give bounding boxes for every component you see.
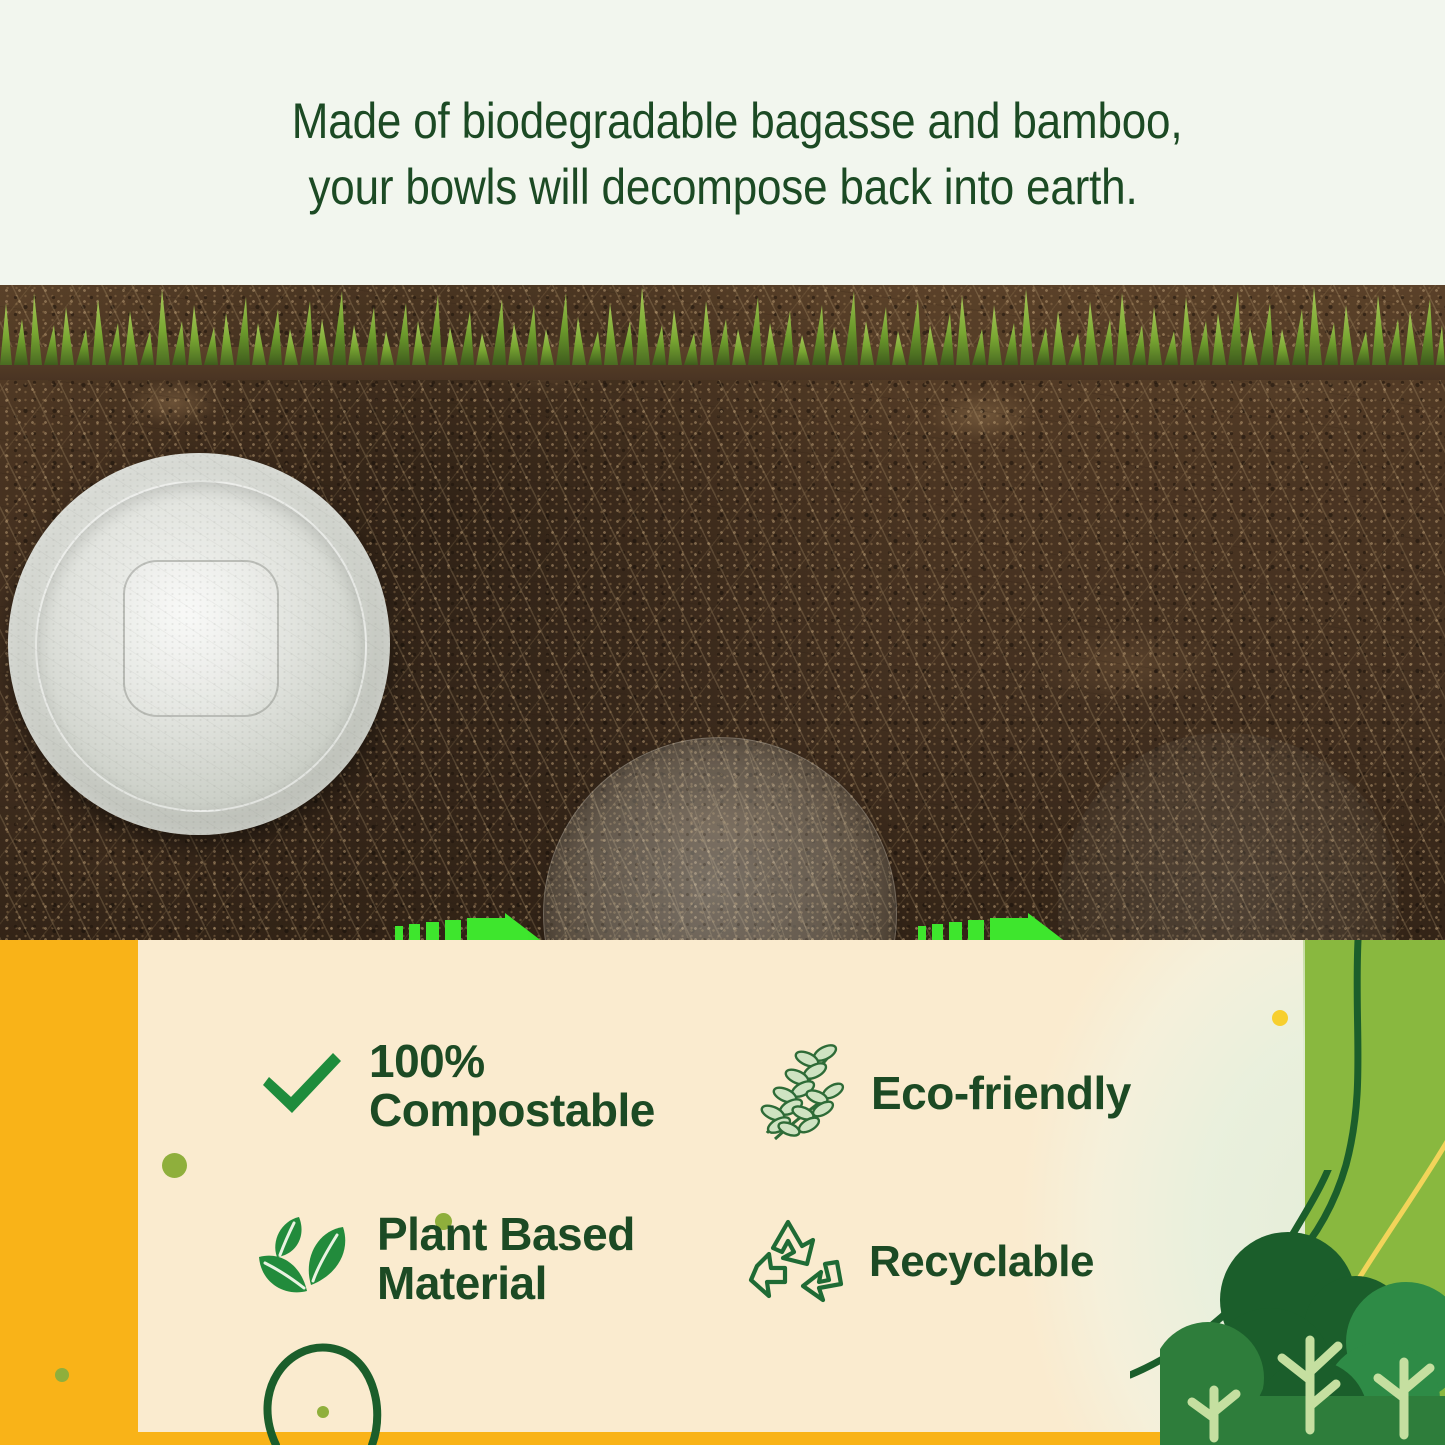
feature-recyclable: Recyclable [745,1210,1094,1315]
arrow-right-icon [395,913,543,940]
vine-loop-bottom-icon [240,1328,470,1445]
headline-line-2: your bowls will decompose back into eart… [291,154,1153,220]
feature-plant-based-label: Plant Based Material [377,1210,635,1308]
recycle-icon [745,1210,847,1315]
feature-plant-based: Plant Based Material [255,1210,635,1308]
progress-arrow-2 [918,913,1066,940]
intact-bowl-texture [8,453,390,835]
three-leaves-icon [255,1213,355,1304]
leaf-sprig-icon [745,1037,849,1150]
headline-band: Made of biodegradable bagasse and bamboo… [0,0,1445,290]
bushes-icon [1160,1220,1445,1445]
infographic-page: Made of biodegradable bagasse and bamboo… [0,0,1445,1445]
arrow-right-icon [918,913,1066,940]
features-grid: 100% Compostable [255,995,1185,1325]
feature-eco-friendly-label: Eco-friendly [871,1069,1131,1118]
feature-compostable-label: 100% Compostable [369,1037,655,1135]
headline-text: Made of biodegradable bagasse and bamboo… [291,88,1153,220]
checkmark-icon [255,1047,347,1124]
grass-layer [0,285,1445,380]
feature-eco-friendly: Eco-friendly [745,1037,1131,1150]
feature-recyclable-label: Recyclable [869,1239,1094,1286]
headline-line-1: Made of biodegradable bagasse and bamboo… [291,88,1153,154]
features-panel: 100% Compostable [0,940,1445,1445]
olive-dot-small [55,1368,69,1382]
olive-dot-large [162,1153,187,1178]
grass-blades-icon [0,285,1445,380]
progress-arrow-1 [395,913,543,940]
feature-compostable: 100% Compostable [255,1037,655,1135]
decomposition-photo-section [0,285,1445,940]
